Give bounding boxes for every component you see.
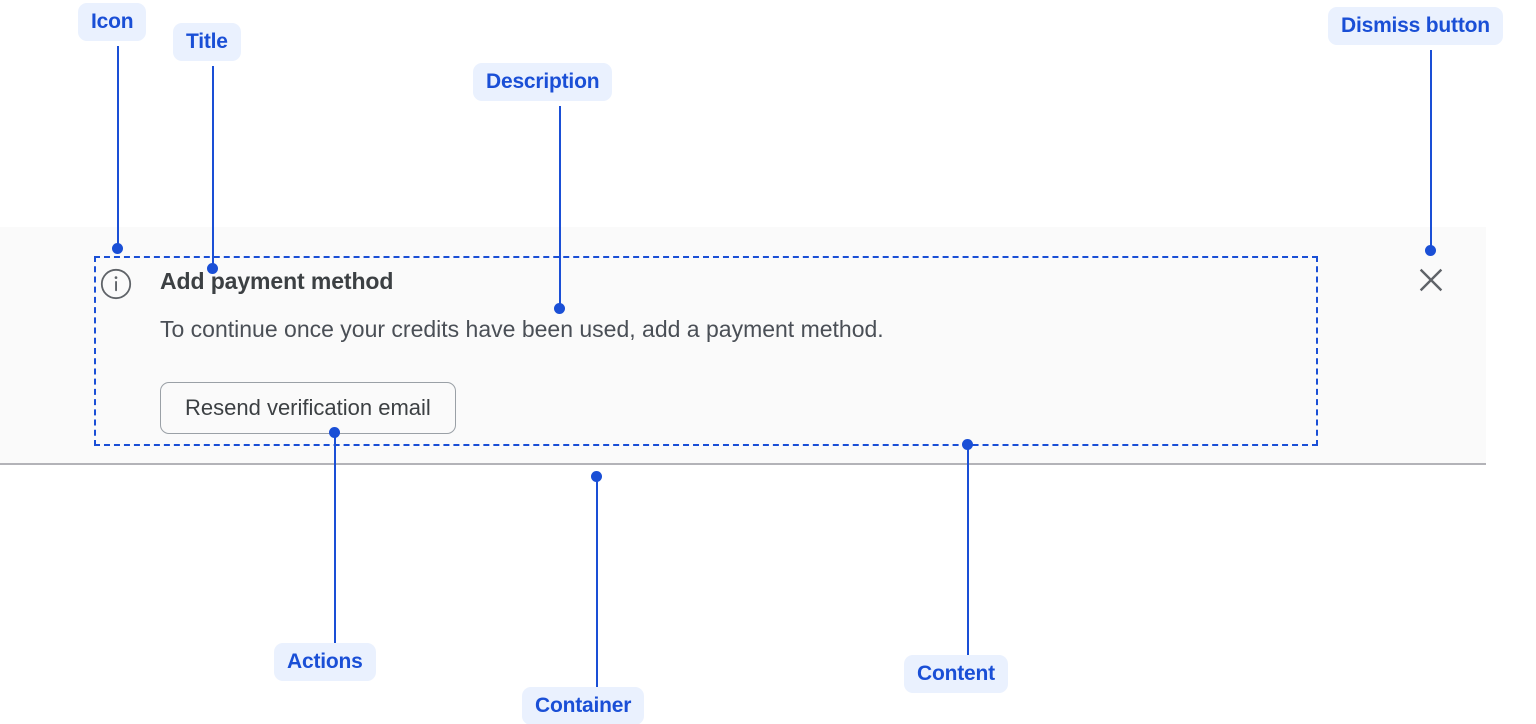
dismiss-button[interactable] bbox=[1413, 262, 1449, 298]
annotation-label-icon: Icon bbox=[78, 3, 146, 41]
annotation-line-container bbox=[596, 478, 598, 687]
annotation-label-container: Container bbox=[522, 687, 644, 724]
annotation-dot-content bbox=[962, 439, 973, 450]
annotation-line-description bbox=[559, 106, 561, 308]
annotation-line-actions bbox=[334, 434, 336, 643]
info-circle-icon bbox=[100, 268, 132, 300]
annotation-label-content: Content bbox=[904, 655, 1008, 693]
annotation-dot-actions bbox=[329, 427, 340, 438]
annotation-line-icon bbox=[117, 46, 119, 248]
annotation-dot-icon bbox=[112, 243, 123, 254]
banner-actions: Resend verification email bbox=[160, 382, 456, 434]
annotation-dot-title bbox=[207, 263, 218, 274]
annotation-label-actions: Actions bbox=[274, 643, 376, 681]
annotation-dot-description bbox=[554, 303, 565, 314]
annotation-dot-dismiss bbox=[1425, 245, 1436, 256]
banner-title: Add payment method bbox=[160, 258, 884, 296]
resend-verification-email-button[interactable]: Resend verification email bbox=[160, 382, 456, 434]
banner-content: Add payment method To continue once your… bbox=[96, 258, 1316, 444]
annotation-dot-container bbox=[591, 471, 602, 482]
banner-description: To continue once your credits have been … bbox=[160, 296, 884, 344]
annotation-line-title bbox=[212, 66, 214, 268]
close-x-icon bbox=[1413, 262, 1449, 298]
annotated-banner-diagram: Add payment method To continue once your… bbox=[0, 0, 1536, 724]
annotation-label-title: Title bbox=[173, 23, 241, 61]
banner-text-column: Add payment method To continue once your… bbox=[160, 258, 884, 344]
annotation-label-dismiss: Dismiss button bbox=[1328, 7, 1503, 45]
annotation-line-content bbox=[967, 446, 969, 655]
annotation-label-description: Description bbox=[473, 63, 612, 101]
annotation-line-dismiss bbox=[1430, 50, 1432, 250]
